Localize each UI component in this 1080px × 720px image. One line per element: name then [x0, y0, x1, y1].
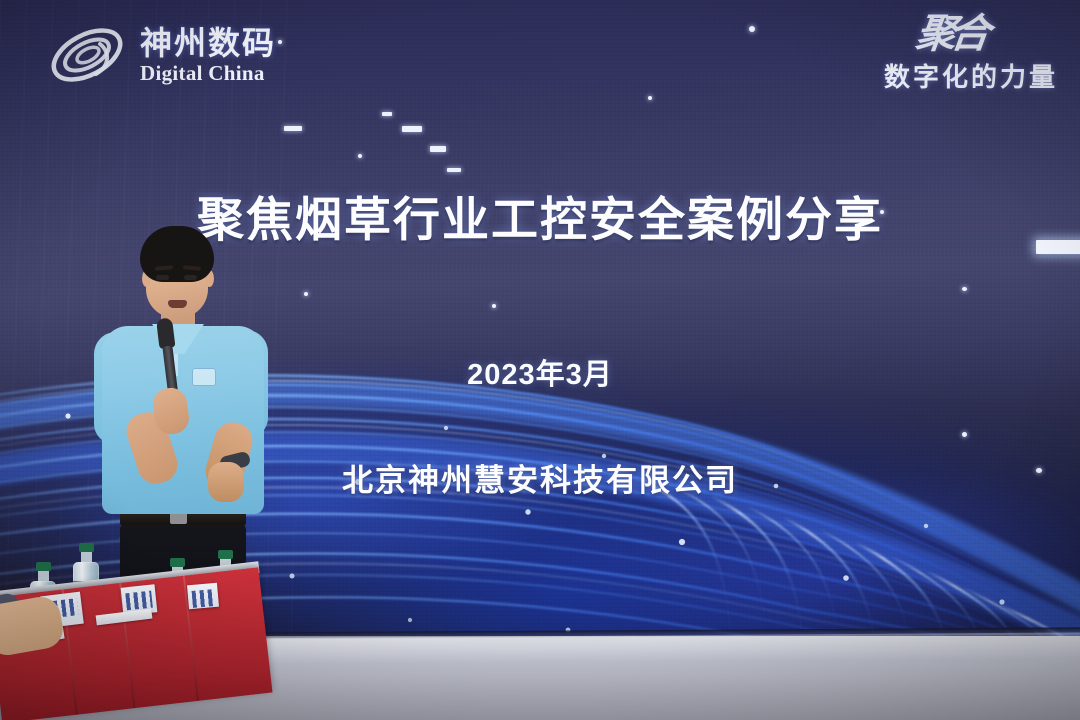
particle-dot: [382, 112, 392, 116]
stage-photo-scene: 神州数码 Digital China 聚合 数字化的力量 聚焦烟草行业工控安全案…: [0, 0, 1080, 720]
particle-dot: [962, 287, 967, 291]
brand-chinese-name: 神州数码: [140, 27, 276, 59]
presenter-mouth: [168, 300, 187, 308]
particle-dot: [430, 146, 446, 152]
name-card-text: [192, 589, 215, 608]
bottle-neck: [38, 571, 49, 581]
particle-dot: [962, 432, 967, 437]
particle-dot: [749, 26, 755, 32]
motto-subtitle: 数字化的力量: [788, 57, 1058, 94]
digital-china-wordmark: 神州数码 Digital China: [140, 27, 276, 84]
presenter-right-hand: [208, 462, 244, 502]
bottle-cap: [218, 550, 233, 559]
particle-dot: [304, 292, 308, 296]
motto-calligraphy: 聚合: [786, 16, 1061, 53]
presenter-eye-left: [156, 275, 169, 280]
name-card: [187, 583, 219, 610]
particle-dot: [648, 96, 652, 100]
name-card-text: [125, 591, 153, 611]
digital-china-swoosh-icon: [44, 18, 130, 92]
bottle-neck: [81, 552, 92, 562]
particle-dot: [278, 40, 282, 44]
presenter-hair: [140, 226, 214, 282]
particle-dot: [492, 304, 496, 308]
particle-dot: [402, 126, 422, 132]
bottle-cap: [36, 562, 51, 571]
particle-dot: [284, 126, 302, 131]
presenter-shirt-logo-icon: [192, 368, 216, 386]
bottle-cap: [79, 543, 94, 552]
bottle-cap: [170, 558, 185, 567]
particle-dot: [358, 154, 362, 158]
digital-china-logo: 神州数码 Digital China: [44, 18, 276, 92]
presenter-eye-right: [184, 275, 197, 280]
brand-english-name: Digital China: [140, 63, 276, 84]
event-motto: 聚合 数字化的力量: [788, 16, 1058, 94]
particle-dot: [447, 168, 461, 172]
